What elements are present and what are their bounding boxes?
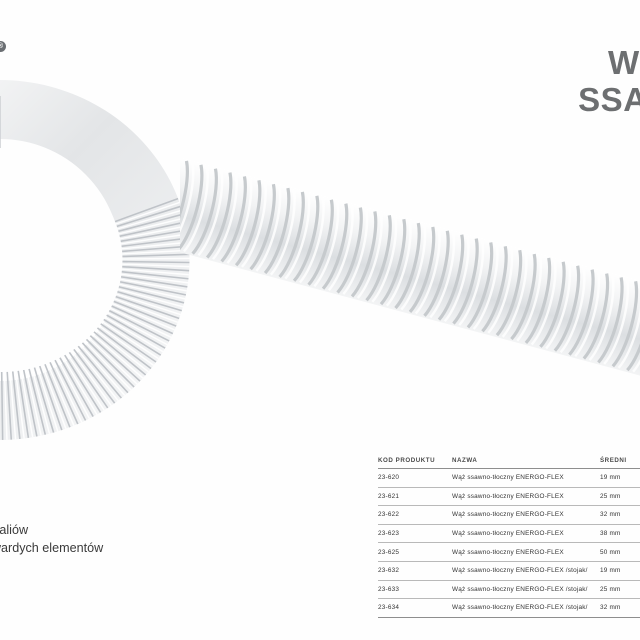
page-title-line2: SSAWNO-T: [330, 81, 640, 118]
column-header-code: KOD PRODUKTU: [378, 457, 452, 464]
cell-product-code: 23-632: [378, 567, 452, 574]
cell-product-name: Wąż ssawno-tłoczny ENERGO-FLEX /stojak/: [452, 586, 600, 593]
cell-product-name: Wąż ssawno-tłoczny ENERGO-FLEX /stojak/: [452, 604, 600, 611]
page-title-line1: WĘŻE SP: [330, 44, 640, 81]
cell-product-name: Wąż ssawno-tłoczny ENERGO-FLEX: [452, 549, 600, 556]
cell-product-code: 23-625: [378, 549, 452, 556]
table-row[interactable]: 23-634Wąż ssawno-tłoczny ENERGO-FLEX /st…: [378, 599, 640, 618]
catalog-page: t ® WĘŻE SP SSAWNO-T: [0, 0, 640, 640]
cell-diameter: 38 mm: [600, 530, 640, 537]
page-title: WĘŻE SP SSAWNO-T: [330, 44, 640, 118]
cell-product-name: Wąż ssawno-tłoczny ENERGO-FLEX: [452, 511, 600, 518]
cell-diameter: 25 mm: [600, 493, 640, 500]
table-body: 23-620Wąż ssawno-tłoczny ENERGO-FLEX19 m…: [378, 469, 640, 618]
straight-hose-graphic: [180, 120, 640, 420]
cell-product-code: 23-622: [378, 511, 452, 518]
cell-product-code: 23-634: [378, 604, 452, 611]
cell-diameter: 50 mm: [600, 549, 640, 556]
table-row[interactable]: 23-633Wąż ssawno-tłoczny ENERGO-FLEX /st…: [378, 581, 640, 600]
cell-diameter: 32 mm: [600, 604, 640, 611]
cell-diameter: 32 mm: [600, 511, 640, 518]
coiled-hose-image: [0, 70, 200, 450]
table-row[interactable]: 23-625Wąż ssawno-tłoczny ENERGO-FLEX50 m…: [378, 543, 640, 562]
table-row[interactable]: 23-620Wąż ssawno-tłoczny ENERGO-FLEX19 m…: [378, 469, 640, 488]
cell-product-code: 23-621: [378, 493, 452, 500]
table-row[interactable]: 23-623Wąż ssawno-tłoczny ENERGO-FLEX38 m…: [378, 525, 640, 544]
column-header-name: NAZWA: [452, 457, 600, 464]
cell-product-name: Wąż ssawno-tłoczny ENERGO-FLEX /stojak/: [452, 567, 600, 574]
cell-product-code: 23-633: [378, 586, 452, 593]
cell-product-code: 23-620: [378, 474, 452, 481]
spec-line-1: wody, lekkich chemikaliów: [0, 521, 282, 539]
coiled-hose-graphic: [0, 70, 200, 450]
cell-product-code: 23-623: [378, 530, 452, 537]
spec-line-2: ich, pozbawionych twardych elementów: [0, 539, 282, 557]
product-copy: ENERGO-FLEX CV wody, lekkich chemikaliów…: [0, 460, 282, 557]
cell-diameter: 25 mm: [600, 586, 640, 593]
column-header-diameter: ŚREDNI: [600, 457, 640, 464]
table-row[interactable]: 23-632Wąż ssawno-tłoczny ENERGO-FLEX /st…: [378, 562, 640, 581]
cell-diameter: 19 mm: [600, 474, 640, 481]
cell-diameter: 19 mm: [600, 567, 640, 574]
table-row[interactable]: 23-621Wąż ssawno-tłoczny ENERGO-FLEX25 m…: [378, 488, 640, 507]
product-table: KOD PRODUKTU NAZWA ŚREDNI 23-620Wąż ssaw…: [378, 452, 640, 618]
spec-line-0: CV: [0, 503, 282, 521]
table-row[interactable]: 23-622Wąż ssawno-tłoczny ENERGO-FLEX32 m…: [378, 506, 640, 525]
table-header-row: KOD PRODUKTU NAZWA ŚREDNI: [378, 452, 640, 469]
product-name: ENERGO-FLEX: [0, 460, 282, 477]
cell-product-name: Wąż ssawno-tłoczny ENERGO-FLEX: [452, 474, 600, 481]
straight-hose-image: [180, 120, 640, 420]
cell-product-name: Wąż ssawno-tłoczny ENERGO-FLEX: [452, 530, 600, 537]
cell-product-name: Wąż ssawno-tłoczny ENERGO-FLEX: [452, 493, 600, 500]
